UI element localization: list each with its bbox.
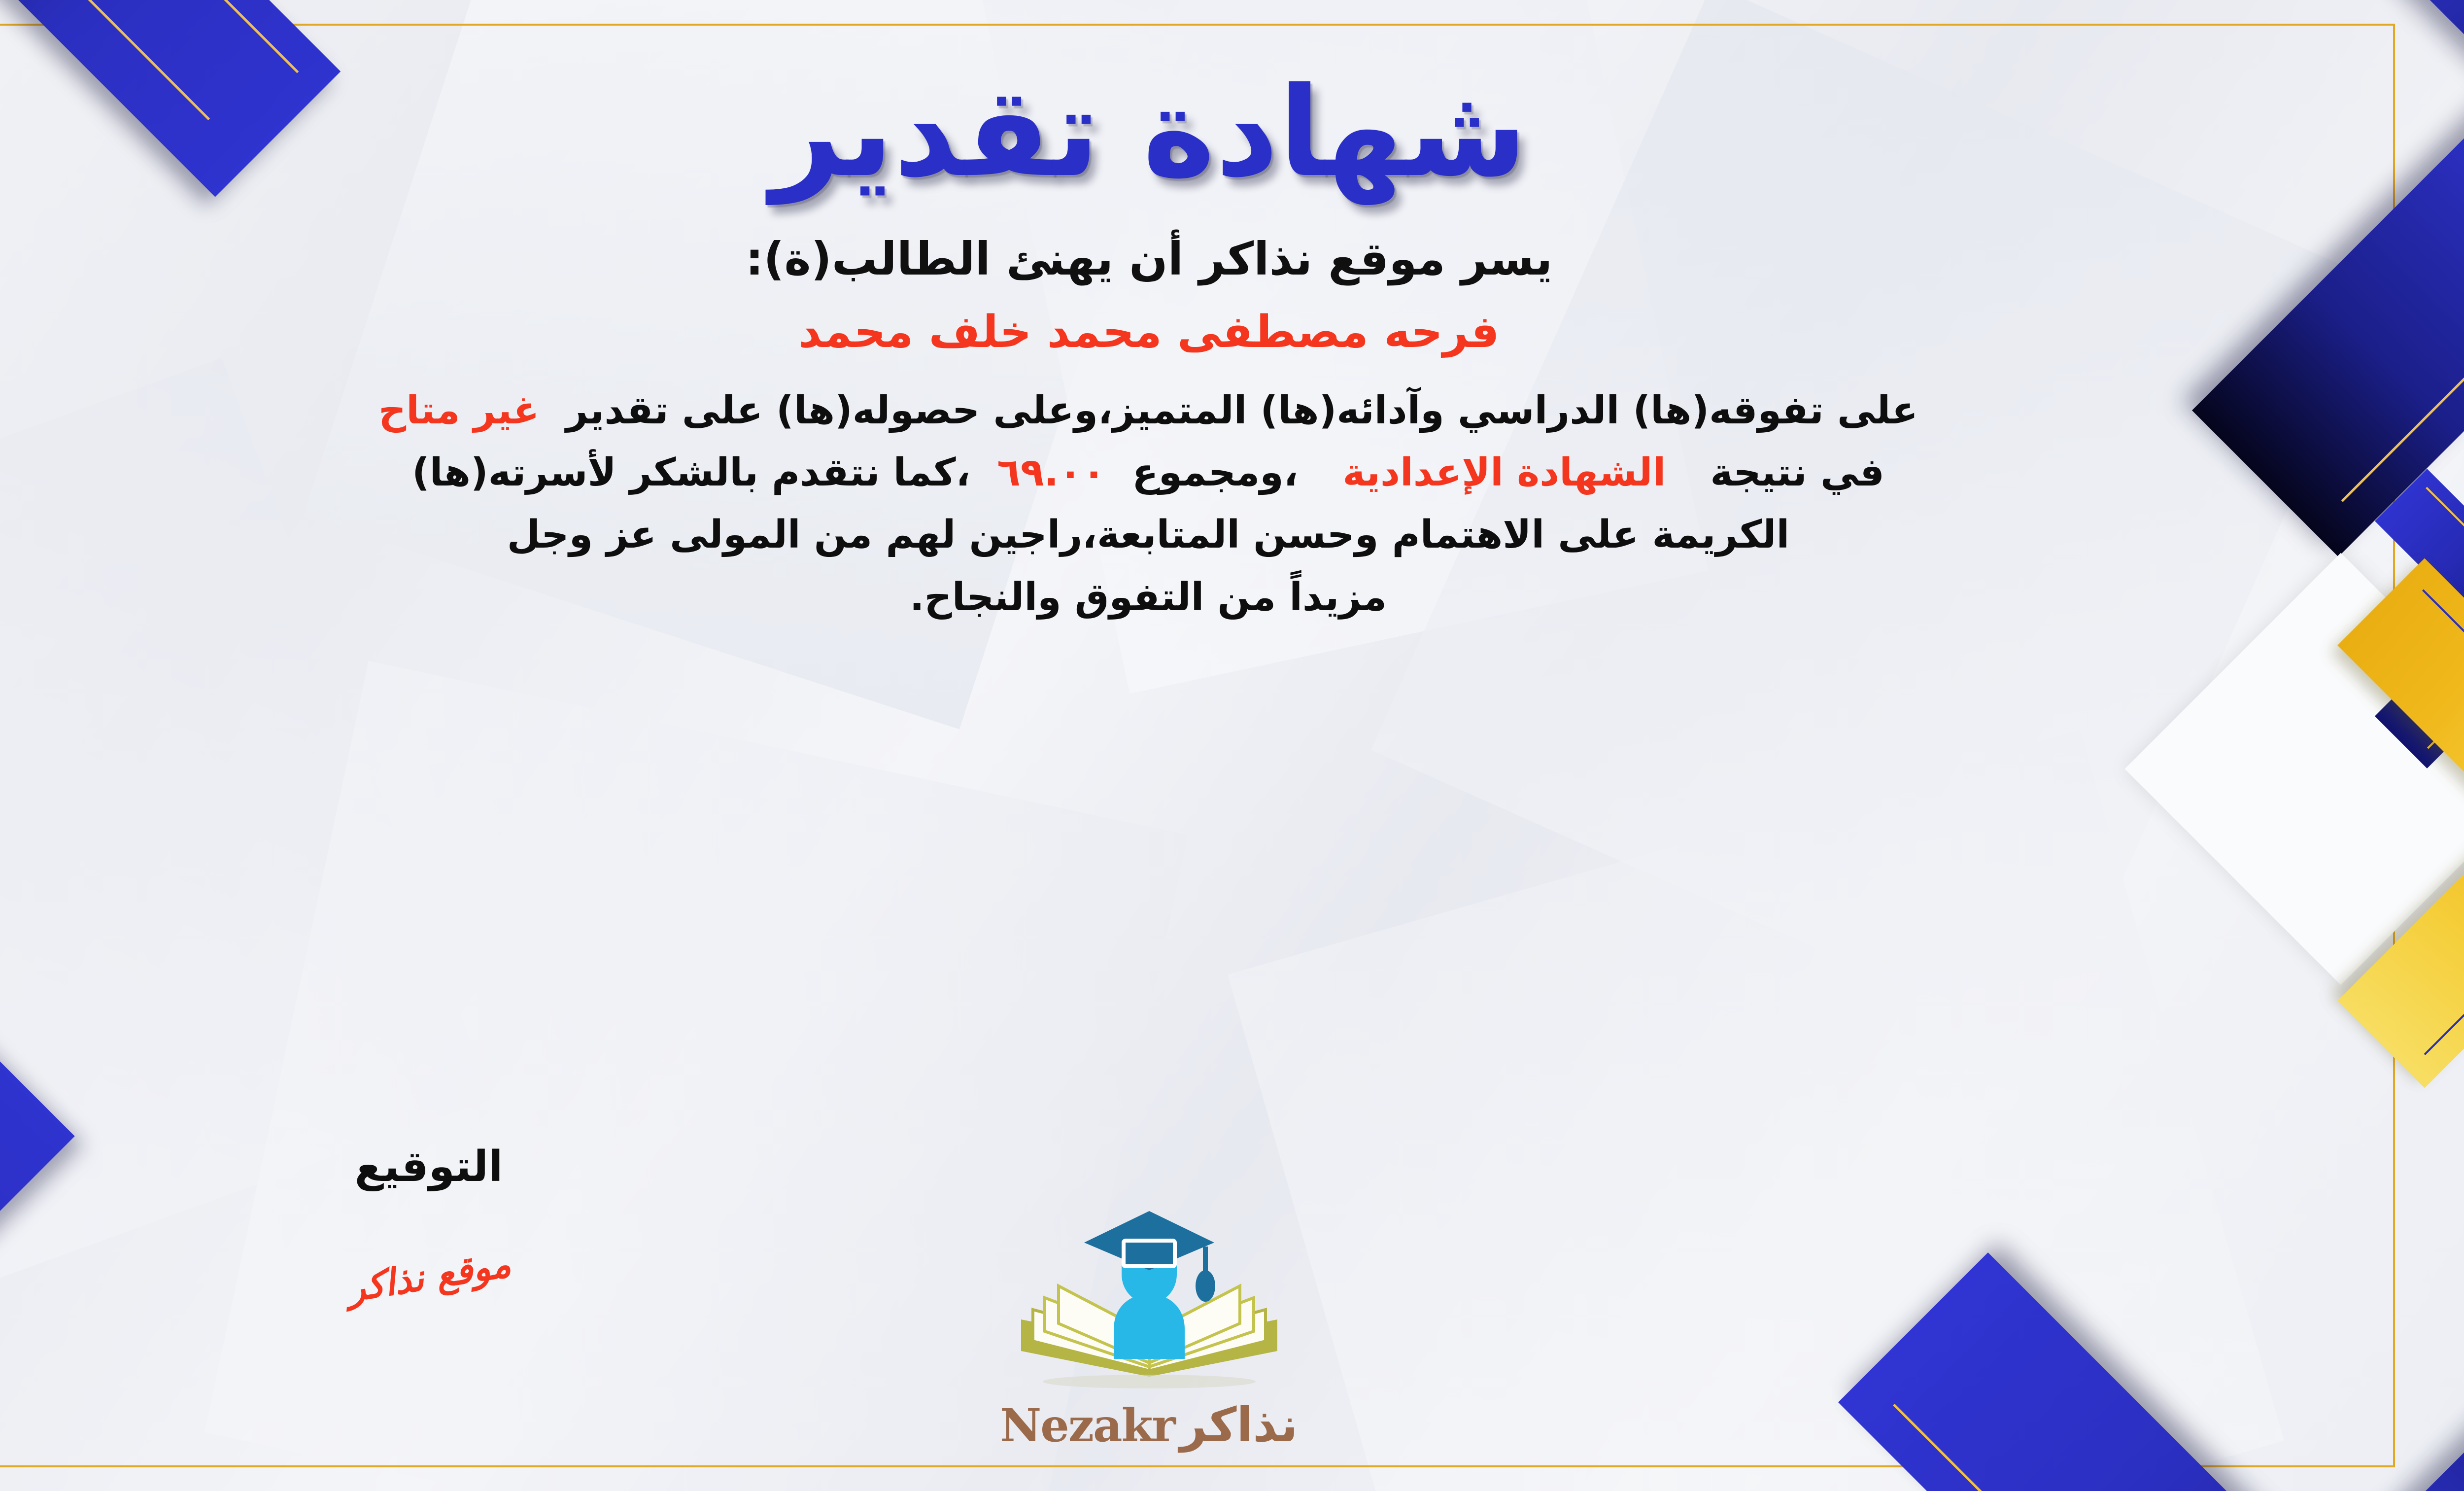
grade-value: غير متاح (378, 388, 539, 433)
graduate-book-icon (1011, 1203, 1287, 1400)
certificate-body: على تفوقه(ها) الدراسي وآدائه(ها) المتميز… (0, 380, 2380, 628)
logo-arabic-text: نذاكر (1180, 1397, 1298, 1453)
logo-wordmark: نذاكر Nezakr (1000, 1397, 1298, 1453)
body-line-3: الكريمة على الاهتمام وحسن المتابعة،راجين… (0, 504, 2380, 566)
body-line-2: في نتيجةالشهادة الإعدادية،ومجموع٦٩.٠٠،كم… (0, 442, 2380, 504)
nezakr-logo: نذاكر Nezakr (0, 1157, 2464, 1453)
body-line-1-text: على تفوقه(ها) الدراسي وآدائه(ها) المتميز… (566, 388, 1918, 433)
body-line-1: على تفوقه(ها) الدراسي وآدائه(ها) المتميز… (0, 380, 2380, 442)
logo-latin-text: Nezakr (1000, 1399, 1175, 1452)
certificate-title: شهادة تقدير (0, 49, 2380, 216)
body-line-2-suffix: ،كما نتقدم بالشكر لأسرته(ها) (412, 451, 970, 495)
body-line-2-prefix: في نتيجة (1710, 451, 1884, 495)
certificate-canvas: شهادة تقدير يسر موقع نذاكر أن يهنئ الطال… (0, 0, 2464, 1491)
body-line-4: مزيداً من التفوق والنجاح. (0, 566, 2380, 628)
total-score: ٦٩.٠٠ (997, 451, 1105, 495)
intro-line: يسر موقع نذاكر أن يهنئ الطالب(ة): (0, 233, 2380, 285)
body-line-2-mid: ،ومجموع (1132, 451, 1298, 495)
certificate-footer: التوقيع موقع نذاكر (0, 1137, 2464, 1453)
student-name: فرحه مصطفى محمد خلف محمد (0, 306, 2380, 358)
exam-name: الشهادة الإعدادية (1342, 451, 1666, 495)
